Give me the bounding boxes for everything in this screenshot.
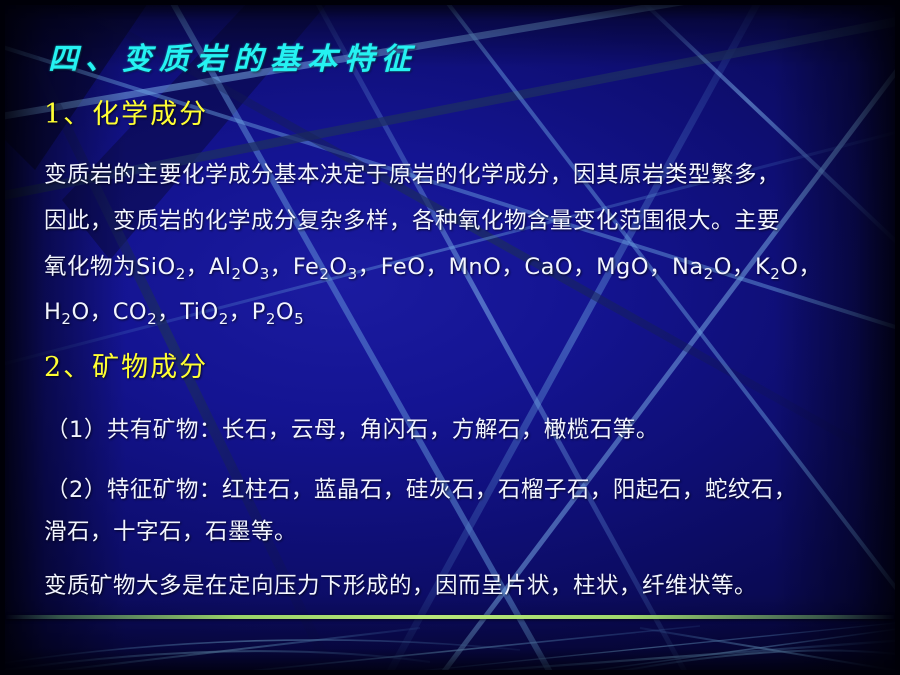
formula-feo: FeO: [381, 254, 426, 280]
section-heading-1: 1、化学成分: [44, 92, 208, 131]
formula-p2o5: P2O5: [252, 299, 304, 325]
formula-h2o: H2O: [44, 299, 90, 325]
formula-cao: CaO: [524, 254, 573, 280]
formula-line-2: H2O，CO2，TiO2，P2O5: [44, 294, 304, 326]
mineral-summary-line: 变质矿物大多是在定向压力下形成的，因而呈片状，柱状，纤维状等。: [44, 568, 757, 600]
formula-al2o3: Al2O3: [209, 254, 270, 280]
formula-tio2: TiO2: [180, 299, 229, 325]
mineral-item-1: （1）共有矿物：长石，云母，角闪石，方解石，橄榄石等。: [46, 412, 659, 444]
section-heading-2: 2、矿物成分: [44, 345, 208, 384]
slide-title: 四、变质岩的基本特征: [48, 34, 418, 78]
formula-prefix: 氧化物为: [44, 254, 136, 280]
formula-mno: MnO: [448, 254, 501, 280]
formula-k2o: K2O: [755, 254, 799, 280]
formula-co2: CO2: [113, 299, 157, 325]
formula-sio2: SiO2: [136, 254, 186, 280]
formula-fe2o3: Fe2O3: [293, 254, 358, 280]
presentation-slide: 四、变质岩的基本特征 1、化学成分 变质岩的主要化学成分基本决定于原岩的化学成分…: [0, 0, 900, 675]
paragraph-line-2: 因此，变质岩的化学成分复杂多样，各种氧化物含量变化范围很大。主要: [44, 203, 780, 235]
slide-content: 四、变质岩的基本特征 1、化学成分 变质岩的主要化学成分基本决定于原岩的化学成分…: [0, 0, 900, 675]
formula-na2o: Na2O: [672, 254, 732, 280]
paragraph-line-1: 变质岩的主要化学成分基本决定于原岩的化学成分，因其原岩类型繁多，: [44, 157, 780, 189]
formula-mgo: MgO: [596, 254, 649, 280]
formula-line-1: 氧化物为SiO2，Al2O3，Fe2O3，FeO，MnO，CaO，MgO，Na2…: [44, 249, 822, 281]
mineral-item-2-line-1: （2）特征矿物：红柱石，蓝晶石，硅灰石，石榴子石，阳起石，蛇纹石，: [46, 472, 797, 504]
mineral-item-2-line-2: 滑石，十字石，石墨等。: [44, 514, 297, 546]
